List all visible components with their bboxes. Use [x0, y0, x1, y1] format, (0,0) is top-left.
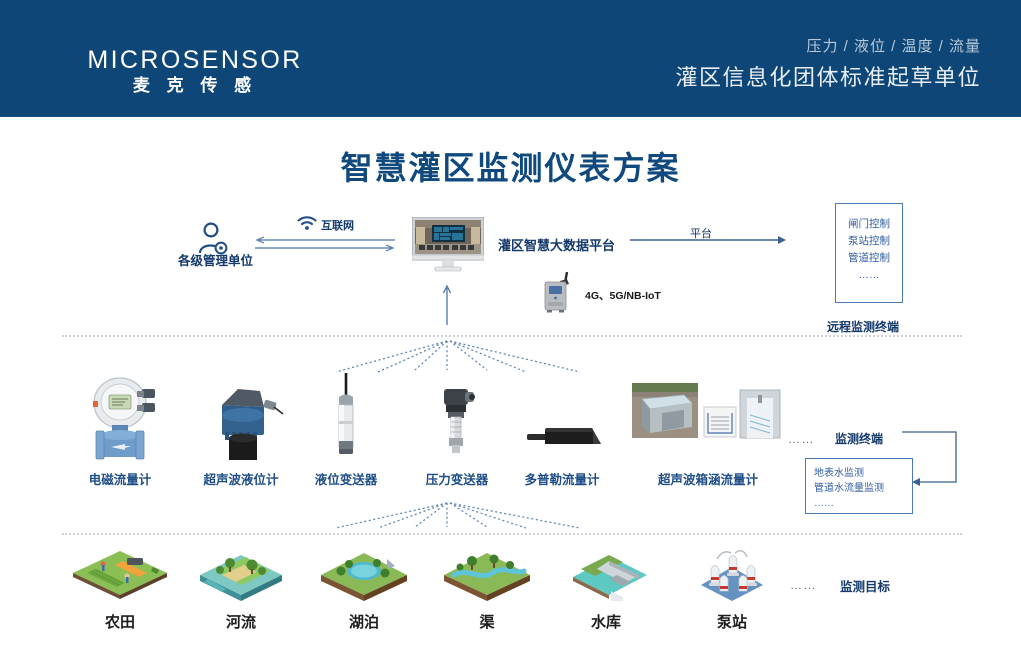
remote-box-item-3: 管道控制	[836, 250, 902, 267]
brand-logo: MICROSENSOR 麦 克 传 感	[80, 46, 310, 97]
target-label: 湖泊	[309, 611, 419, 632]
farmland-icon	[65, 545, 175, 597]
page-header: MICROSENSOR 麦 克 传 感 压力 / 液位 / 温度 / 流量 灌区…	[0, 0, 1021, 117]
platform-label: 灌区智慧大数据平台	[498, 235, 615, 254]
targets-ellipsis: ……	[790, 578, 817, 592]
target-canal: 渠	[432, 545, 542, 632]
monitoring-terminal-label: 监测终端	[835, 430, 883, 447]
instrument-label: 超声波箱涵流量计	[652, 469, 764, 488]
instrument-label: 超声波液位计	[186, 469, 296, 488]
instruments-ellipsis: ……	[788, 432, 815, 446]
network-label: 4G、5G/NB-IoT	[585, 288, 661, 303]
target-label: 泵站	[677, 611, 787, 632]
target-reservoir: 水库	[551, 545, 661, 632]
instrument-doppler-flowmeter: 多普勒流量计	[507, 365, 617, 488]
instrument-label: 多普勒流量计	[507, 469, 617, 488]
target-label: 河流	[186, 611, 296, 632]
ultrasonic-level-meter-icon	[186, 365, 296, 465]
page-title: 智慧灌区监测仪表方案	[0, 143, 1021, 189]
logo-text-cn: 麦 克 传 感	[80, 75, 310, 97]
instrument-ultrasonic-level-meter: 超声波液位计	[186, 365, 296, 488]
target-label: 农田	[65, 611, 175, 632]
instrument-ultrasonic-culvert-flowmeter: 超声波箱涵流量计	[652, 365, 764, 488]
header-title: 灌区信息化团体标准起草单位	[675, 62, 981, 94]
wifi-icon	[297, 216, 317, 231]
electromagnetic-flowmeter-icon	[65, 365, 175, 465]
instrument-level-transmitter: 液位变送器	[291, 365, 401, 488]
admin-unit-label: 各级管理单位	[178, 250, 250, 269]
remote-control-box: 闸门控制 泵站控制 管道控制 ……	[835, 203, 903, 303]
level-transmitter-icon	[291, 365, 401, 465]
instrument-label: 电磁流量计	[65, 469, 175, 488]
remote-box-item-2: 泵站控制	[836, 233, 902, 250]
ultrasonic-culvert-flowmeter-icon	[652, 365, 764, 465]
monitoring-target-label: 监测目标	[840, 576, 890, 595]
pump-station-icon	[677, 545, 787, 597]
monitoring-items-box: 地表水监测 管道水流量监测 ……	[805, 458, 913, 514]
doppler-flowmeter-icon	[507, 365, 617, 465]
internet-label: 互联网	[321, 217, 354, 233]
instrument-pressure-transmitter: 压力变送器	[402, 365, 512, 488]
header-tagline-group: 压力 / 液位 / 温度 / 流量 灌区信息化团体标准起草单位	[675, 36, 981, 94]
remote-box-item-1: 闸门控制	[836, 216, 902, 233]
instrument-label: 液位变送器	[291, 469, 401, 488]
remote-box-item-4: ……	[836, 267, 902, 284]
pressure-transmitter-icon	[402, 365, 512, 465]
divider-bottom	[62, 533, 962, 535]
target-label: 渠	[432, 611, 542, 632]
logo-text-en: MICROSENSOR	[80, 46, 310, 74]
canal-icon	[432, 545, 542, 597]
target-farmland: 农田	[65, 545, 175, 632]
header-subtitle: 压力 / 液位 / 温度 / 流量	[675, 36, 981, 58]
remote-terminal-label: 远程监测终端	[827, 318, 899, 335]
instrument-electromagnetic-flowmeter: 电磁流量计	[65, 365, 175, 488]
target-pump-station: 泵站	[677, 545, 787, 632]
monitor-box-item-2: 管道水流量监测	[806, 481, 912, 496]
divider-top	[62, 335, 962, 337]
rtu-datalogger-icon	[543, 272, 573, 314]
feedback-hook-arrow	[900, 430, 960, 490]
reservoir-icon	[551, 545, 661, 597]
platform-link-label: 平台	[690, 225, 712, 241]
uplink-arrow	[440, 285, 454, 325]
target-river: 河流	[186, 545, 296, 632]
monitor-box-item-3: ……	[806, 496, 912, 511]
data-platform-monitor-icon	[412, 217, 484, 272]
lake-icon	[309, 545, 419, 597]
internet-bidirectional-arrows	[255, 236, 395, 252]
instrument-label: 压力变送器	[402, 469, 512, 488]
river-icon	[186, 545, 296, 597]
target-lake: 湖泊	[309, 545, 419, 632]
monitor-box-item-1: 地表水监测	[806, 459, 912, 481]
target-label: 水库	[551, 611, 661, 632]
